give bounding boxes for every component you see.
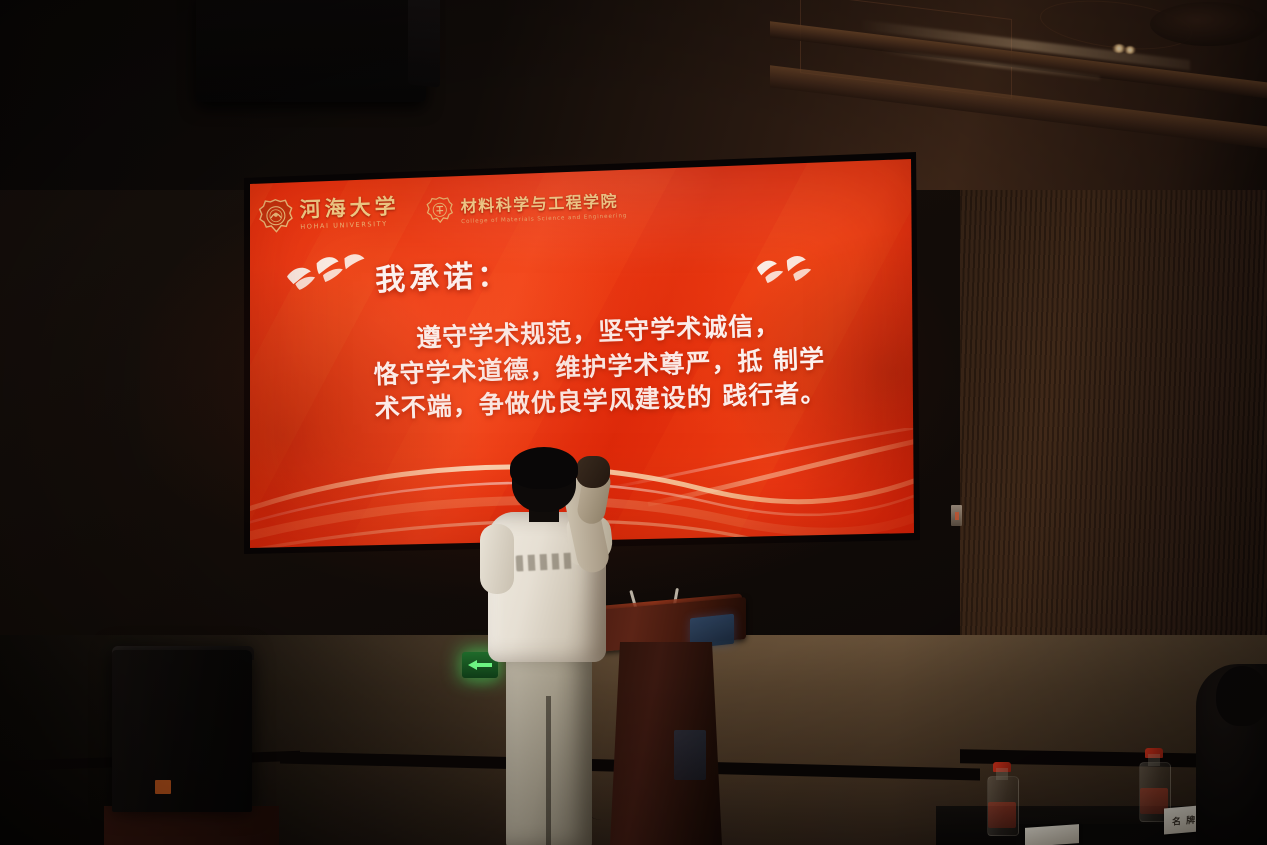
floor-speaker (112, 650, 252, 812)
ceiling-speaker-side (408, 0, 440, 88)
speaker-person (472, 450, 632, 845)
ceiling-vent (1150, 2, 1267, 46)
wall-socket-indicator (955, 512, 959, 520)
photo-scene: 河海大学 HOHAI UNIVERSITY 材料科学与工程学院 (0, 0, 1267, 845)
water-bottle-left[interactable] (987, 762, 1017, 834)
downlight (1124, 46, 1136, 54)
person-hair (510, 447, 578, 489)
ceiling-speaker (196, 0, 426, 102)
podium-lower-panel (674, 730, 706, 780)
person-leg-split (546, 696, 551, 845)
person-raised-fist (576, 456, 610, 488)
tshirt-print (516, 552, 577, 571)
audience-head (1216, 666, 1267, 726)
bottle-label (988, 802, 1016, 828)
name-placard-text: 名 牌 (1172, 813, 1196, 828)
person-left-shoulder (480, 524, 514, 594)
speaker-brand-logo (155, 780, 171, 794)
name-placard-left (1025, 824, 1079, 845)
ceiling (0, 0, 1267, 190)
